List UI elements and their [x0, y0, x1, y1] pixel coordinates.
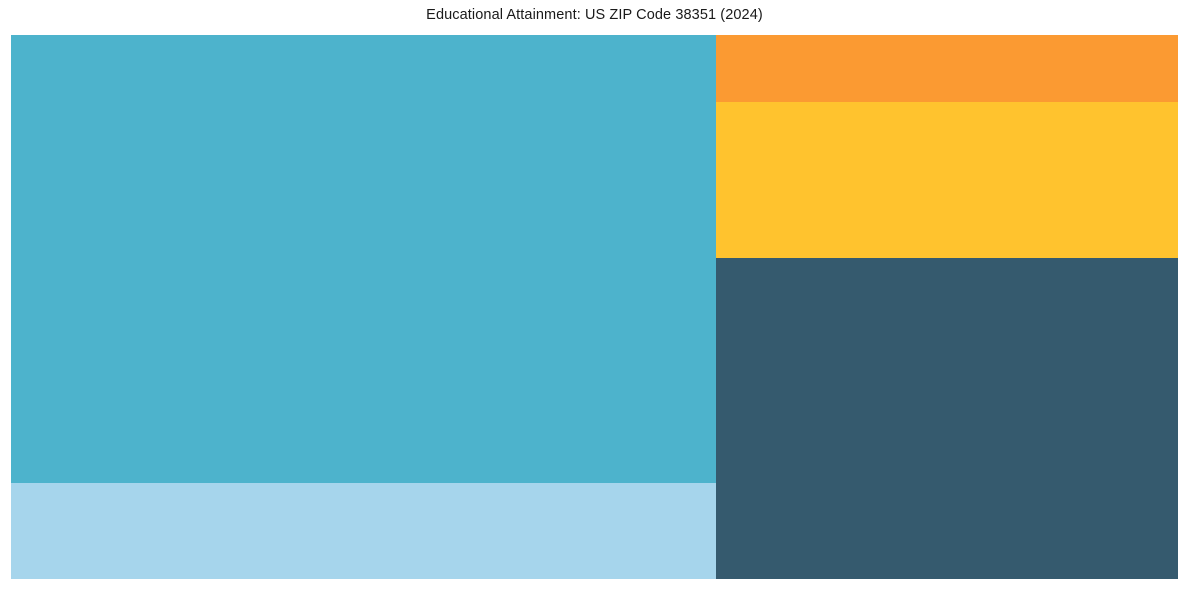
treemap-tile-bachelors-degree[interactable]: Bachelor's degree — [716, 35, 1178, 102]
treemap-column-right: Bachelor's degree Graduate or profession… — [716, 35, 1178, 579]
treemap-figure: Educational Attainment: US ZIP Code 3835… — [0, 0, 1189, 590]
treemap-tile-high-school-graduate[interactable]: High school graduate — [11, 35, 716, 483]
treemap-column-left: High school graduate Some college or ass… — [11, 35, 716, 579]
treemap-tile-some-college[interactable]: Some college or associate's — [11, 483, 716, 579]
treemap-tile-less-than-high-school[interactable]: Less than high school — [716, 258, 1178, 579]
treemap-tile-graduate-degree[interactable]: Graduate or professional degree — [716, 102, 1178, 258]
chart-title: Educational Attainment: US ZIP Code 3835… — [0, 5, 1189, 25]
treemap-plot-area: High school graduate Some college or ass… — [11, 35, 1178, 579]
